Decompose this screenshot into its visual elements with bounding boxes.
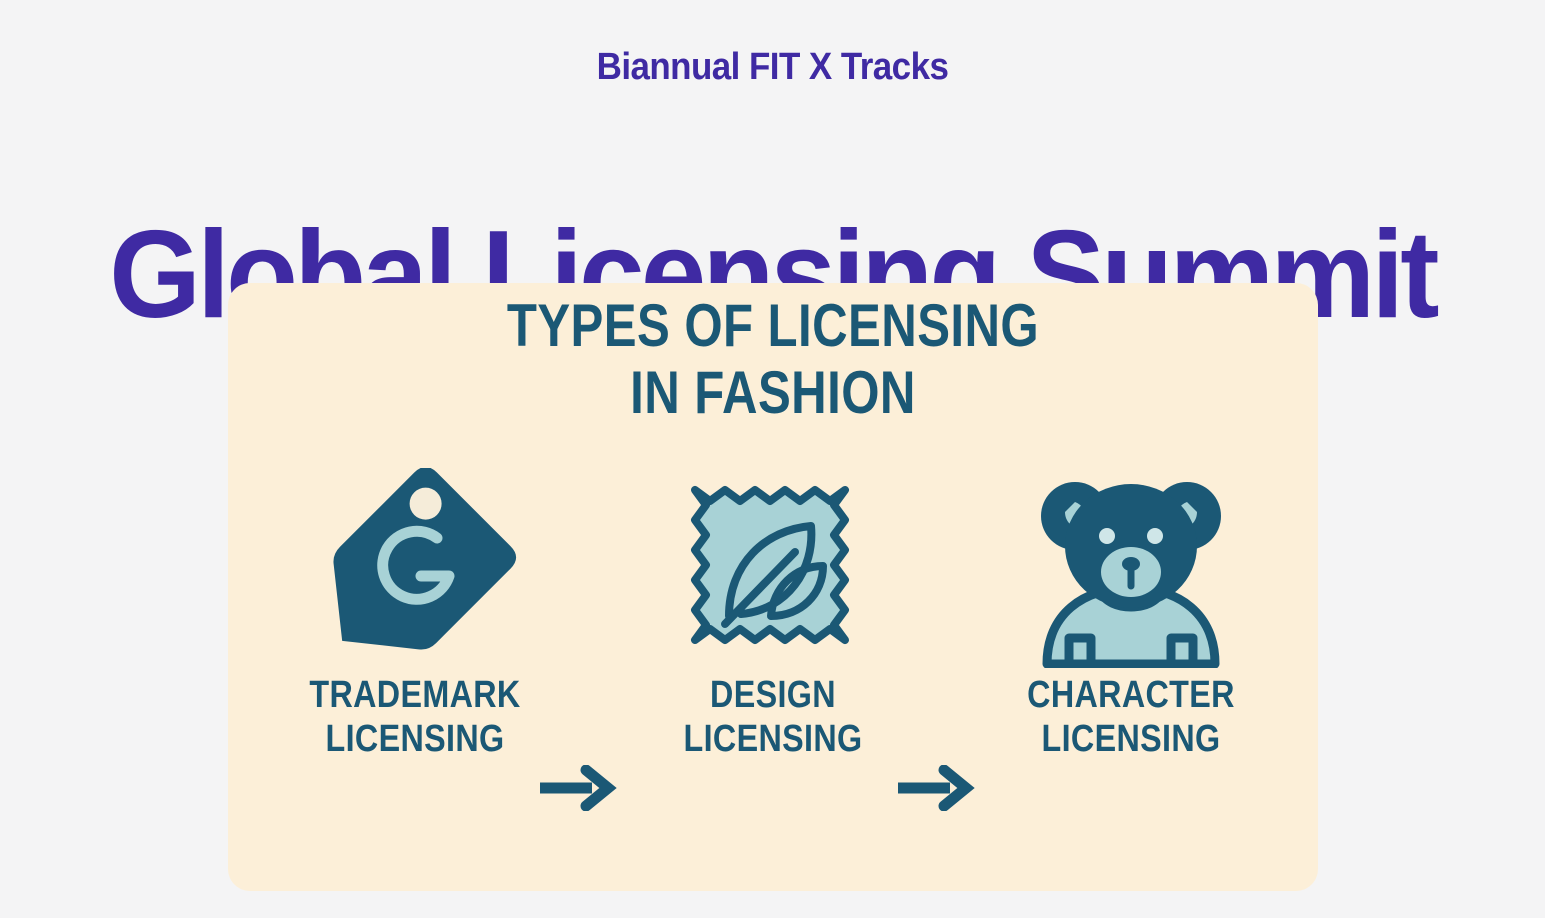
teddy-bear-icon <box>986 468 1276 668</box>
licensing-type-design: DESIGN LICENSING <box>628 468 918 768</box>
licensing-type-character-label: CHARACTER LICENSING <box>1008 673 1255 761</box>
price-tag-icon <box>270 468 560 668</box>
infographic-title-line-2: IN FASHION <box>326 359 1220 426</box>
licensing-type-character: CHARACTER LICENSING <box>986 468 1276 768</box>
arrow-right-icon <box>896 765 986 821</box>
infographic-card: TYPES OF LICENSING IN FASHION <box>228 283 1318 891</box>
label-line-2: LICENSING <box>650 717 897 761</box>
licensing-types-row: TRADEMARK LICENSING <box>228 468 1318 768</box>
arrow-right-icon <box>538 765 628 821</box>
poster-canvas: Biannual FIT X Tracks Global Licensing S… <box>0 0 1545 918</box>
fabric-swatch-leaf-icon <box>628 468 918 668</box>
label-line-1: CHARACTER <box>1027 674 1235 716</box>
licensing-type-trademark: TRADEMARK LICENSING <box>270 468 560 768</box>
eyebrow-text: Biannual FIT X Tracks <box>62 44 1483 90</box>
infographic-title: TYPES OF LICENSING IN FASHION <box>326 292 1220 426</box>
label-line-2: LICENSING <box>292 717 539 761</box>
label-line-1: DESIGN <box>710 674 836 716</box>
label-line-1: TRADEMARK <box>309 674 520 716</box>
infographic-title-line-1: TYPES OF LICENSING <box>507 292 1039 359</box>
licensing-type-trademark-label: TRADEMARK LICENSING <box>292 673 539 761</box>
licensing-type-design-label: DESIGN LICENSING <box>650 673 897 761</box>
label-line-2: LICENSING <box>1008 717 1255 761</box>
